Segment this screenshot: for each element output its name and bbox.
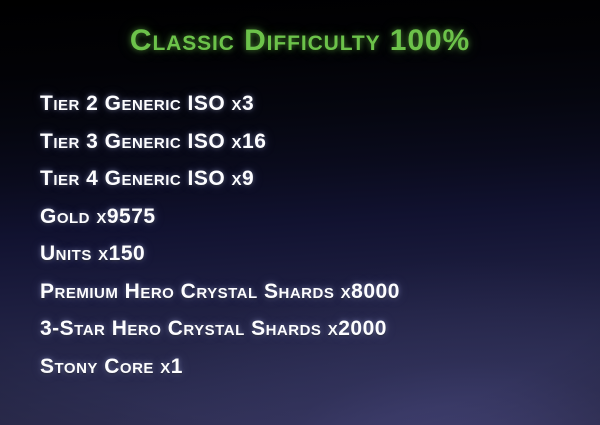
list-item: Units x150	[40, 239, 582, 277]
list-item: Tier 2 Generic ISO x3	[40, 89, 582, 127]
list-item: Tier 4 Generic ISO x9	[40, 164, 582, 202]
list-item: Gold x9575	[40, 202, 582, 240]
page-title: Classic Difficulty 100%	[0, 24, 600, 58]
reward-list: Tier 2 Generic ISO x3 Tier 3 Generic ISO…	[40, 89, 582, 389]
list-item: Tier 3 Generic ISO x16	[40, 127, 582, 165]
list-item: Stony Core x1	[40, 352, 582, 390]
list-item: Premium Hero Crystal Shards x8000	[40, 277, 582, 315]
rewards-screen: Classic Difficulty 100% Tier 2 Generic I…	[0, 0, 600, 425]
list-item: 3-Star Hero Crystal Shards x2000	[40, 314, 582, 352]
